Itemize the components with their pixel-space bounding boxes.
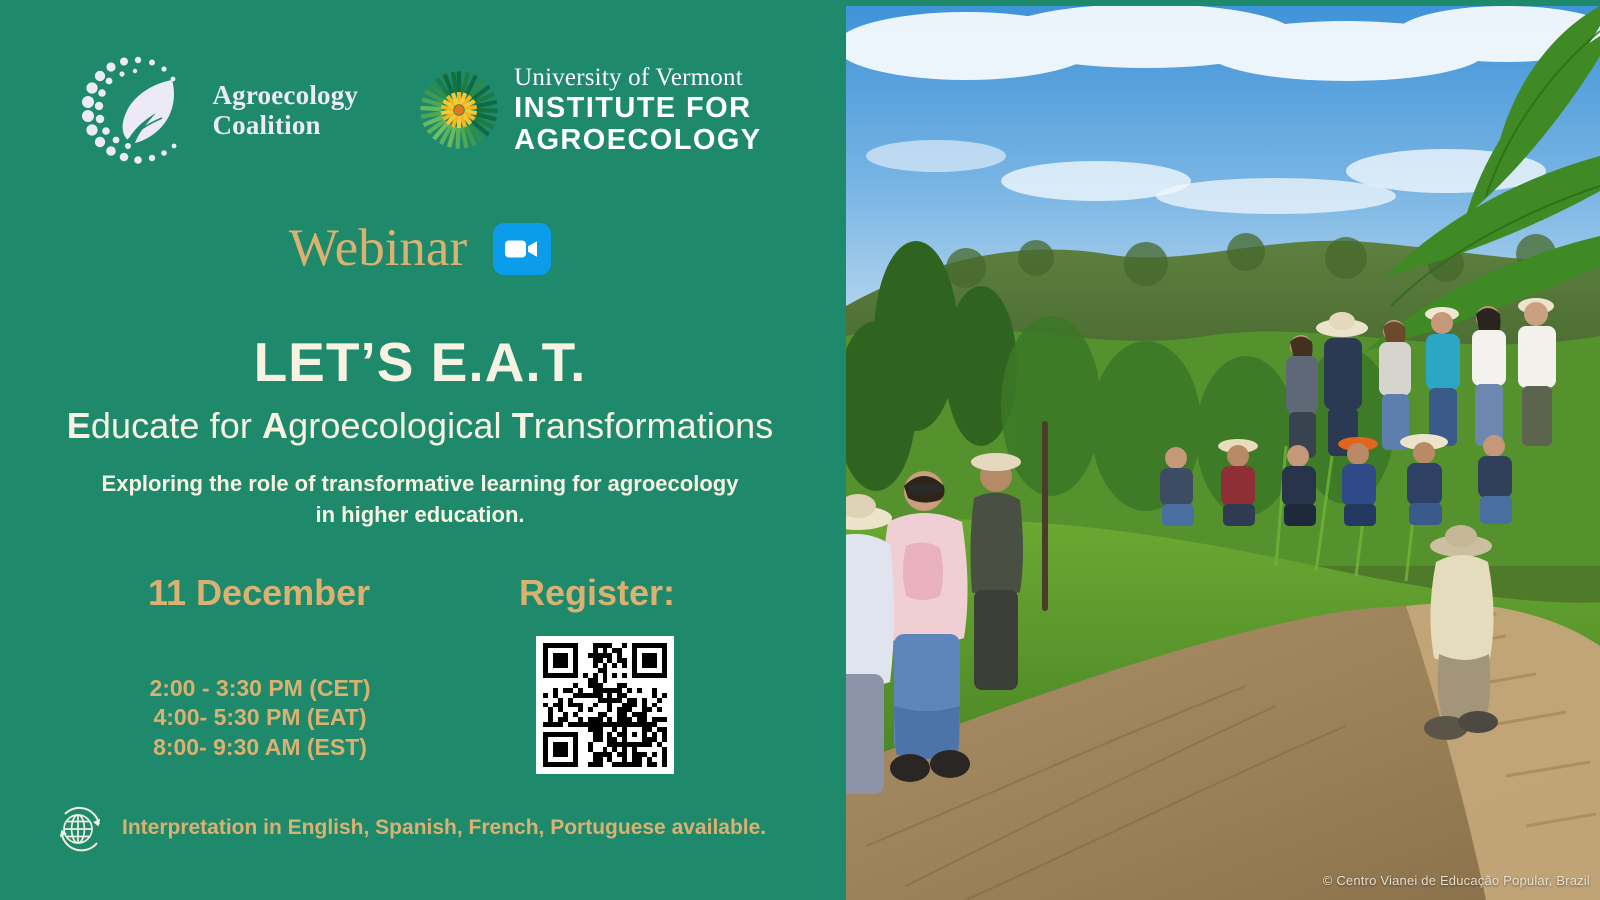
interpretation-row: Interpretation in English, Spanish, Fren… <box>52 800 766 856</box>
agroecology-coalition-logo: Agroecology Coalition <box>78 50 358 170</box>
time-est: 8:00- 9:30 AM (EST) <box>0 733 520 762</box>
uvm-institute-logo: University of Vermont INSTITUTE FOR AGRO… <box>418 64 761 156</box>
uvm-sunburst-icon <box>418 69 500 151</box>
expansion-rest-agroecological: groecological <box>288 405 512 446</box>
expansion-bold-t: T <box>512 405 534 446</box>
zoom-video-icon <box>493 223 551 275</box>
agroecology-coalition-leaf-dots-icon <box>78 50 198 170</box>
expansion-bold-e: E <box>67 405 91 446</box>
registration-qr-code[interactable] <box>536 636 674 774</box>
webinar-row: Webinar <box>0 222 840 275</box>
uvm-line-2: INSTITUTE FOR <box>514 93 761 124</box>
qr-modules <box>543 643 667 767</box>
register-label: Register: <box>519 572 675 614</box>
photo-panel: © Centro Vianei de Educação Popular, Bra… <box>840 0 1600 900</box>
agroecology-field-group-photo: © Centro Vianei de Educação Popular, Bra… <box>846 6 1600 900</box>
title-expansion: Educate for Agroecological Transformatio… <box>0 405 840 447</box>
event-times: 2:00 - 3:30 PM (CET) 4:00- 5:30 PM (EAT)… <box>0 674 520 762</box>
expansion-rest-educate: ducate for <box>91 405 262 446</box>
uvm-line-3: AGROECOLOGY <box>514 125 761 156</box>
page-title: LET’S E.A.T. <box>0 330 840 394</box>
webinar-poster: Agroecology Coalition <box>0 0 1600 900</box>
time-cet: 2:00 - 3:30 PM (CET) <box>0 674 520 703</box>
coalition-logo-text: Agroecology Coalition <box>212 80 358 140</box>
event-description: Exploring the role of transformative lea… <box>0 468 840 530</box>
time-eat: 4:00- 5:30 PM (EAT) <box>0 703 520 732</box>
event-date: 11 December <box>148 572 370 614</box>
expansion-rest-transformations: ransformations <box>534 405 774 446</box>
expansion-bold-a: A <box>262 405 288 446</box>
coalition-line-2: Coalition <box>212 110 358 140</box>
globe-translation-icon <box>52 800 108 856</box>
description-line-2: in higher education. <box>0 499 840 530</box>
left-content-panel: Agroecology Coalition <box>0 0 840 900</box>
webinar-label: Webinar <box>289 222 467 275</box>
description-line-1: Exploring the role of transformative lea… <box>0 468 840 499</box>
coalition-line-1: Agroecology <box>212 80 358 110</box>
uvm-logo-text: University of Vermont INSTITUTE FOR AGRO… <box>514 64 761 156</box>
uvm-line-1: University of Vermont <box>514 64 761 91</box>
logo-row: Agroecology Coalition <box>0 40 840 180</box>
photo-credit: © Centro Vianei de Educação Popular, Bra… <box>1323 873 1590 888</box>
interpretation-text: Interpretation in English, Spanish, Fren… <box>122 816 766 840</box>
